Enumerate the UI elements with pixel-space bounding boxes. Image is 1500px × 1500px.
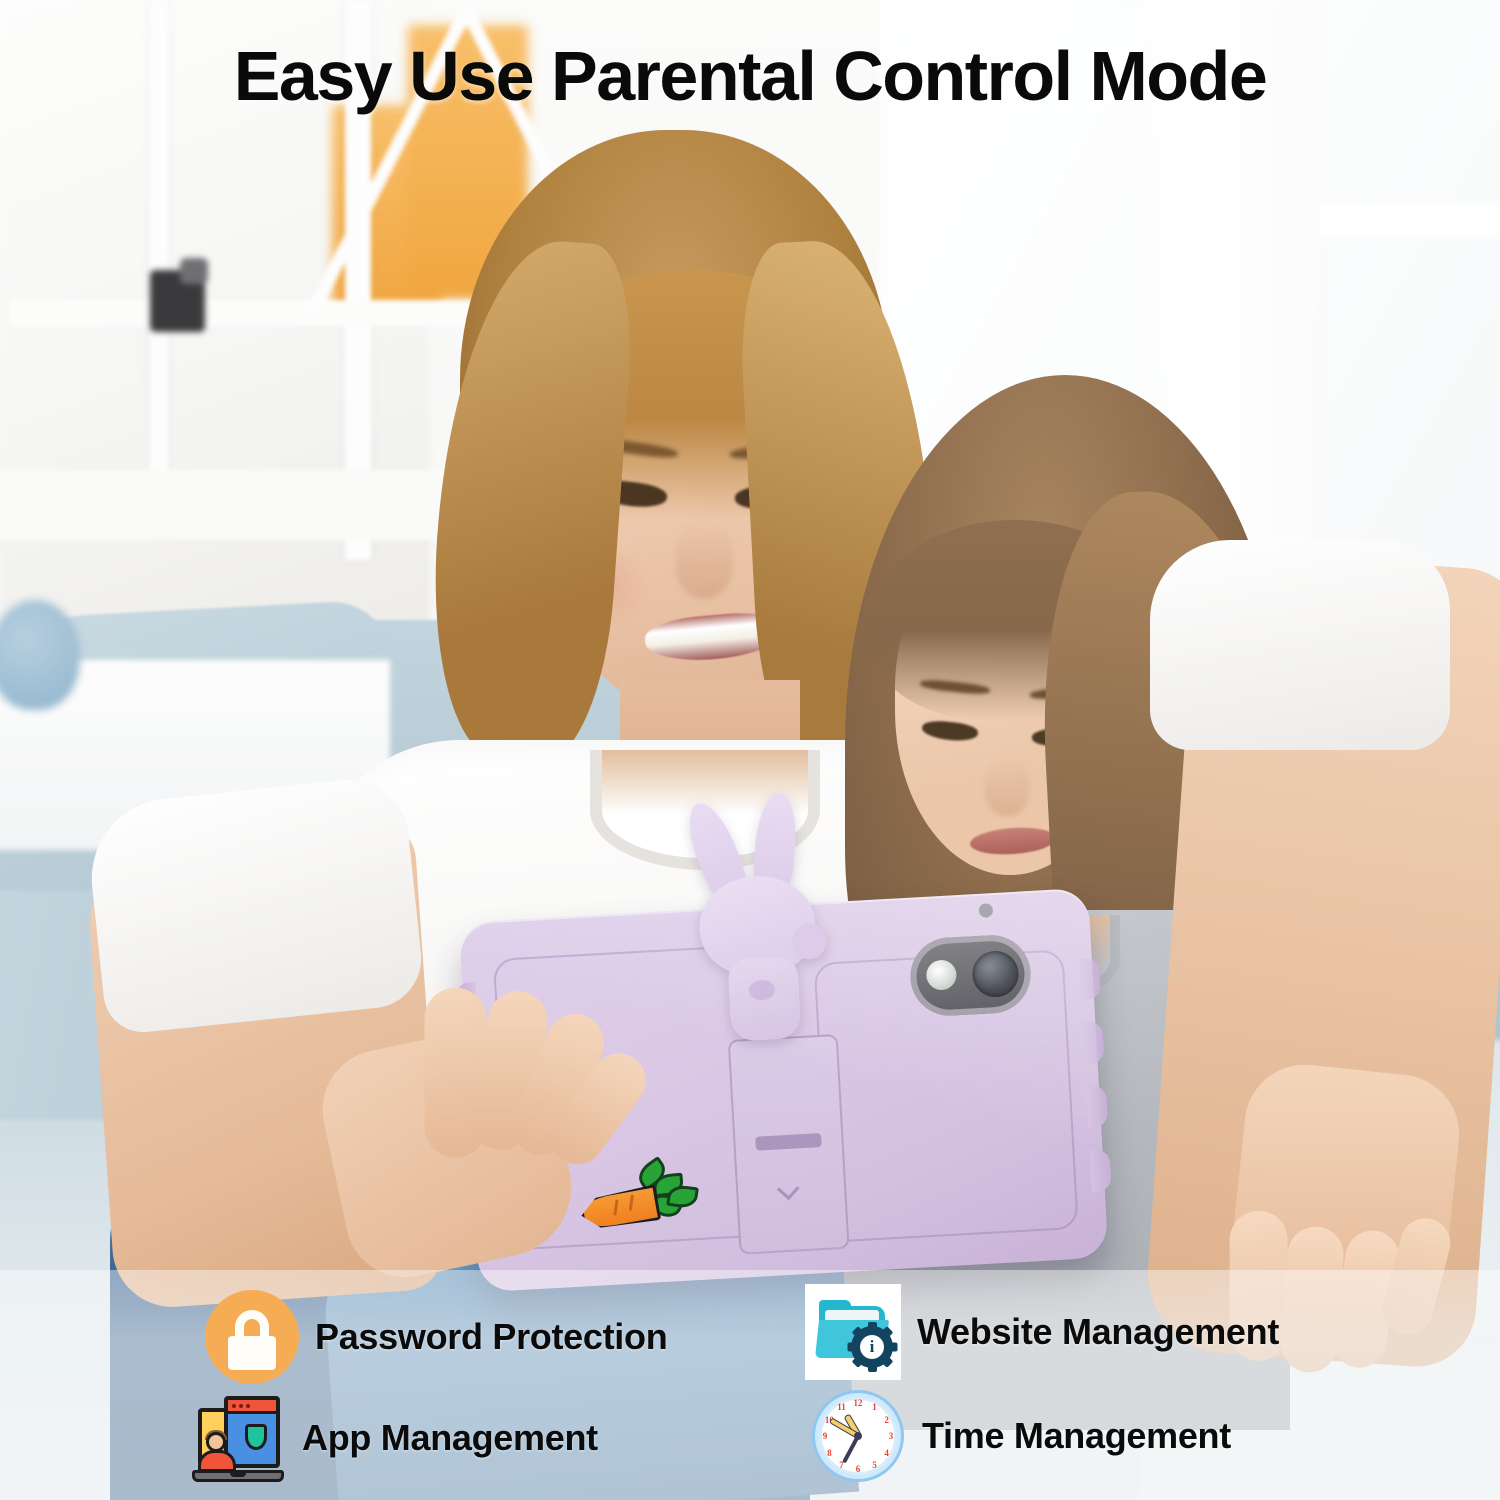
clock-numeral: 4: [881, 1448, 893, 1458]
person-head: [206, 1432, 226, 1452]
woman-hair-strand: [422, 234, 638, 765]
carrot-leaf: [666, 1184, 699, 1210]
feature-label-time-management: Time Management: [922, 1415, 1231, 1457]
clock-numeral: 2: [881, 1415, 893, 1425]
browser-dots: [232, 1404, 250, 1408]
clock-numeral: 9: [819, 1431, 831, 1441]
woman-left-sleeve: [84, 774, 426, 1036]
clock-center-pin: [854, 1432, 862, 1440]
clock-numeral: 6: [852, 1464, 864, 1474]
kickstand[interactable]: [728, 1034, 850, 1255]
folder-gear-icon: i: [805, 1284, 901, 1380]
rear-camera-module: [908, 933, 1032, 1018]
camera-lens: [971, 950, 1019, 998]
girl-nose: [985, 758, 1029, 816]
clock-icon: 121234567891011: [810, 1388, 906, 1484]
gear-info-glyph: i: [860, 1335, 884, 1359]
clock-numeral: 12: [852, 1398, 864, 1408]
shield-icon: [245, 1424, 267, 1450]
feature-label-app-management: App Management: [302, 1417, 598, 1459]
feature-app-management: App Management: [190, 1390, 598, 1486]
lock-body: [228, 1336, 276, 1370]
clock-numeral: 8: [823, 1448, 835, 1458]
clock-numeral: 3: [885, 1431, 897, 1441]
page-title: Easy Use Parental Control Mode: [0, 36, 1500, 116]
clock-numeral: 1: [869, 1402, 881, 1412]
laptop-notch: [230, 1472, 246, 1477]
feature-label-website-management: Website Management: [917, 1311, 1279, 1353]
kickstand-slot: [755, 1133, 822, 1151]
case-panel-right: [814, 949, 1079, 1243]
woman-right-sleeve: [1150, 540, 1450, 750]
carrot-leaf: [652, 1173, 684, 1198]
camera-flash: [926, 959, 958, 991]
microphone-pinhole: [979, 903, 994, 918]
gear-icon: i: [851, 1326, 893, 1368]
feature-website-management: i Website Management: [805, 1284, 1279, 1380]
feature-time-management: 121234567891011 Time Management: [810, 1388, 1231, 1484]
kickstand-arrow-marker: [777, 1178, 800, 1201]
feature-password-protection: Password Protection: [205, 1290, 667, 1384]
bunny-figure-icon: [680, 795, 833, 1032]
laptop-shield-icon: [190, 1390, 286, 1486]
woman-left-hand-holding-tablet: [303, 962, 657, 1308]
clock-numeral: 5: [869, 1460, 881, 1470]
browser-titlebar: [228, 1400, 276, 1414]
feature-list: Password Protection i Website Management: [0, 1270, 1500, 1500]
product-lifestyle-banner: Easy Use Parental Control Mode Password …: [0, 0, 1500, 1500]
lock-icon: [205, 1290, 299, 1384]
clock-numeral: 11: [836, 1402, 848, 1412]
carrot-leaf: [648, 1189, 685, 1222]
feature-label-password-protection: Password Protection: [315, 1316, 667, 1358]
woman-nose: [675, 520, 733, 598]
person-body: [198, 1450, 236, 1472]
